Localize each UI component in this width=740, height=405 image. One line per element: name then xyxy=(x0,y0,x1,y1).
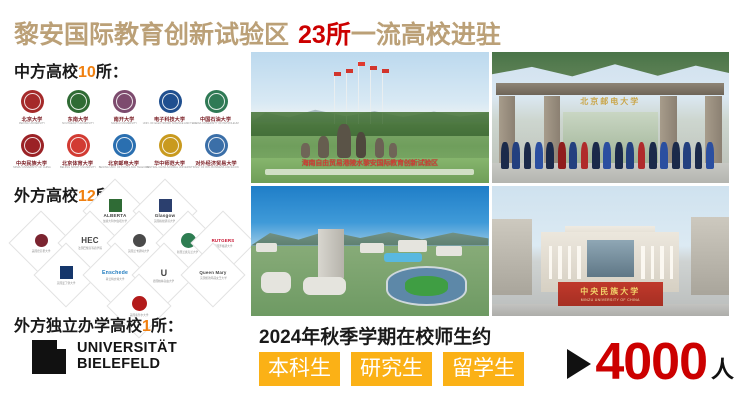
university-seal-icon xyxy=(67,134,90,157)
section-header-chinese-label-b: 所： xyxy=(96,64,128,81)
university-logo-sublabel: 英国爱丁堡大学 xyxy=(57,281,76,285)
university-logo-item: 南开大学 NANKAI UNIVERSITY xyxy=(102,90,146,126)
university-logo-label: RUTGERS xyxy=(212,238,235,243)
university-logo-label: 北京邮电大学 xyxy=(108,159,139,167)
university-logo-label: 东南大学 xyxy=(68,115,89,123)
foreign-university-logo-grid: ALBERTA 加拿大阿尔伯塔大学 Glasgow 英国格拉斯哥大学 美国密苏里… xyxy=(8,204,246,308)
university-logo-sublabel: BEIJING UNIV. OF POSTS AND TELECOM xyxy=(99,167,150,170)
university-logo-item: 北京邮电大学 BEIJING UNIV. OF POSTS AND TELECO… xyxy=(102,134,146,170)
university-logo-label: 南开大学 xyxy=(114,115,135,123)
university-seal-icon xyxy=(21,90,44,113)
stat-number: 4000 xyxy=(595,340,707,385)
university-seal-icon xyxy=(159,134,182,157)
university-logo-item: 华中师范大学 CENTRAL CHINA NORMAL UNIVERSITY xyxy=(148,134,192,170)
stat-headline: 2024年秋季学期在校师生约 xyxy=(259,322,491,349)
photo-caption: 海南自由贸易港陵水黎安国际教育创新试验区 xyxy=(284,159,455,168)
university-logo-label: 对外经济贸易大学 xyxy=(195,159,236,167)
university-logo-label: Glasgow xyxy=(155,213,176,218)
student-category-badges: 本科生 研究生 留学生 xyxy=(259,352,524,386)
university-seal-icon xyxy=(205,90,228,113)
logo-row: 中央民族大学 MINZU UNIVERSITY OF CHINA 北京体育大学 … xyxy=(10,128,238,170)
photo-bupt-gate: 北京邮电大学 xyxy=(492,52,730,183)
page-title: 黎安国际教育创新试验区 23所 一流高校进驻 xyxy=(14,16,714,50)
university-logo-label: 华中师范大学 xyxy=(154,159,185,167)
university-logo-item: 北京体育大学 BEIJING SPORT UNIVERSITY xyxy=(56,134,100,170)
photo-campus-monument: 海南自由贸易港陵水黎安国际教育创新试验区 xyxy=(251,52,489,183)
photo-caption: 北京邮电大学 xyxy=(553,96,667,107)
photo-aerial-campus xyxy=(251,186,489,317)
section-header-independent-label-b: 所： xyxy=(151,318,183,335)
poster-root: 黎安国际教育创新试验区 23所 一流高校进驻 中方高校10所： 北京大学 PEK… xyxy=(0,0,740,405)
university-logo-sublabel: UNIV. OF INTL BUSINESS AND ECON xyxy=(193,167,238,170)
photo-caption-en: MINZU UNIVERSITY OF CHINA xyxy=(581,298,640,302)
university-seal-icon xyxy=(21,134,44,157)
university-logo-sublabel: BEIJING SPORT UNIVERSITY xyxy=(60,167,96,170)
university-logo-label: U xyxy=(161,268,168,278)
page-title-highlight: 23所 xyxy=(298,15,351,51)
university-logo-sublabel: 荷兰特文特大学 xyxy=(106,277,125,281)
university-logo-label: 中央民族大学 xyxy=(16,159,47,167)
page-title-tail: 一流高校进驻 xyxy=(351,15,501,51)
university-logo-item: 北京大学 PEKING UNIVERSITY xyxy=(10,90,54,126)
photo-caption: 中央民族大学 xyxy=(580,286,640,297)
university-logo-sublabel: MINZU UNIVERSITY OF CHINA xyxy=(13,167,51,170)
section-header-independent: 外方独立办学高校1所： xyxy=(14,312,183,336)
university-logo-label: 中国石油大学 xyxy=(200,115,231,123)
university-crest-icon xyxy=(132,296,147,311)
university-logo-sublabel: 美国密苏里大学 xyxy=(32,249,51,253)
photo-minzu-building: 中央民族大学 MINZU UNIVERSITY OF CHINA xyxy=(492,186,730,317)
university-logo-sublabel: SOUTHEAST UNIVERSITY xyxy=(62,123,94,126)
university-logo-label: 电子科技大学 xyxy=(154,115,185,123)
university-logo-sublabel: CENTRAL CHINA NORMAL UNIVERSITY xyxy=(146,167,195,170)
university-logo-sublabel: CHINA UNIVERSITY OF PETROLEUM xyxy=(193,123,238,126)
university-logo-label: Enschede xyxy=(102,270,128,276)
logo-row: 北京大学 PEKING UNIVERSITY 东南大学 SOUTHEAST UN… xyxy=(10,84,238,126)
section-header-independent-label-a: 外方独立办学高校 xyxy=(14,318,142,335)
chinese-university-logo-grid: 北京大学 PEKING UNIVERSITY 东南大学 SOUTHEAST UN… xyxy=(10,84,244,172)
section-header-chinese: 中方高校10所： xyxy=(14,58,128,82)
badge-undergraduate: 本科生 xyxy=(259,352,340,386)
section-header-independent-count: 1 xyxy=(142,318,151,335)
university-logo-label: ALBERTA xyxy=(103,213,126,218)
section-header-chinese-label-a: 中方高校 xyxy=(14,64,78,81)
university-crest-icon xyxy=(109,199,122,212)
university-logo-item: 中国石油大学 CHINA UNIVERSITY OF PETROLEUM xyxy=(194,90,238,126)
university-seal-icon xyxy=(205,134,228,157)
university-crest-icon xyxy=(133,234,146,247)
university-logo-item: 对外经济贸易大学 UNIV. OF INTL BUSINESS AND ECON xyxy=(194,134,238,170)
university-logo-sublabel: 新西兰奥克兰大学 xyxy=(177,250,198,254)
bielefeld-line-2: BIELEFELD xyxy=(77,357,177,373)
stat-figure: 4000 人 xyxy=(567,340,734,385)
university-logo-item: 电子科技大学 UNIV. OF ELECTRONIC SCIENCE AND T… xyxy=(148,90,192,126)
university-logo-sublabel: 法国巴黎高等商学院 xyxy=(78,246,102,250)
university-logo-sublabel: NANKAI UNIVERSITY xyxy=(111,123,137,126)
bielefeld-square-icon xyxy=(32,340,66,374)
graduates-crowd xyxy=(496,136,724,170)
university-logo-sublabel: 英国伦敦玛丽女王大学 xyxy=(200,276,227,280)
university-logo-label: 北京大学 xyxy=(22,115,43,123)
section-header-chinese-count: 10 xyxy=(78,64,96,81)
university-logo-sublabel: 加拿大阿尔伯塔大学 xyxy=(103,219,127,223)
page-title-main: 黎安国际教育创新试验区 xyxy=(14,15,289,51)
badge-postgraduate: 研究生 xyxy=(351,352,432,386)
university-crest-icon xyxy=(60,266,73,279)
section-header-foreign-label-a: 外方高校 xyxy=(14,188,78,205)
university-logo-item: 东南大学 SOUTHEAST UNIVERSITY xyxy=(56,90,100,126)
bielefeld-wordmark: UNIVERSITÄT BIELEFELD xyxy=(77,341,177,372)
left-column: 中方高校10所： 北京大学 PEKING UNIVERSITY 东南大学 SOU… xyxy=(0,52,250,405)
university-logo-sublabel: 英国格拉斯哥大学 xyxy=(154,219,175,223)
building-sign: 中央民族大学 MINZU UNIVERSITY OF CHINA xyxy=(558,282,663,305)
play-triangle-icon xyxy=(567,349,591,379)
university-logo-sublabel: 英国兰卡斯特大学 xyxy=(128,249,149,253)
bielefeld-line-1: UNIVERSITÄT xyxy=(77,341,177,357)
stat-unit: 人 xyxy=(711,358,734,381)
bielefeld-logo: UNIVERSITÄT BIELEFELD xyxy=(32,340,177,374)
university-seal-icon xyxy=(113,90,136,113)
university-logo-item: 中央民族大学 MINZU UNIVERSITY OF CHINA xyxy=(10,134,54,170)
university-logo-label: Queen Mary xyxy=(199,270,226,275)
university-logo-sublabel: 德国柏林自由大学 xyxy=(153,279,174,283)
university-seal-icon xyxy=(113,134,136,157)
university-seal-icon xyxy=(67,90,90,113)
badge-international: 留学生 xyxy=(443,352,524,386)
university-logo-sublabel: UNIV. OF ELECTRONIC SCIENCE AND TECH xyxy=(143,123,197,126)
university-logo-label: 北京体育大学 xyxy=(62,159,93,167)
university-crest-icon xyxy=(35,234,48,247)
university-logo-label: HEC xyxy=(81,236,99,245)
enrollment-stat: 2024年秋季学期在校师生约 本科生 研究生 留学生 4000 人 xyxy=(255,322,740,402)
university-crest-icon xyxy=(159,199,172,212)
photo-grid: 海南自由贸易港陵水黎安国际教育创新试验区 北京邮电大学 xyxy=(251,52,729,316)
university-seal-icon xyxy=(159,90,182,113)
university-logo-sublabel: PEKING UNIVERSITY xyxy=(19,123,45,126)
